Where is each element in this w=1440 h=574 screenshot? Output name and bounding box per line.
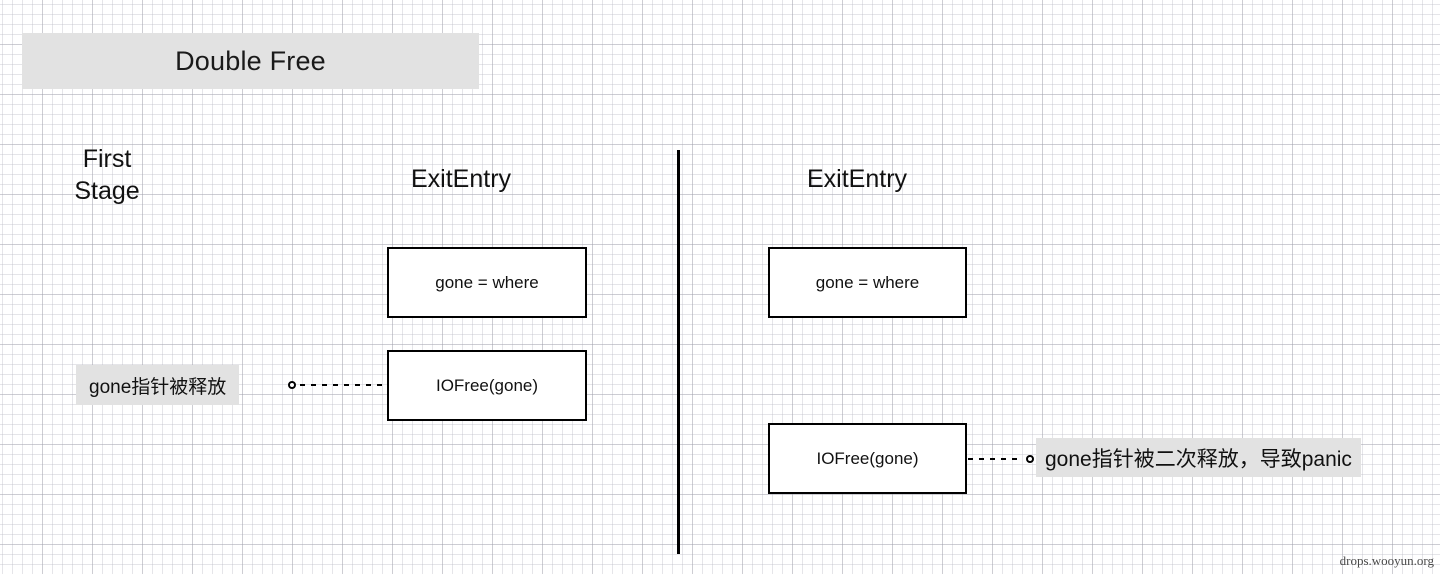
- diagram-title-bar: Double Free: [22, 33, 479, 89]
- node-label: gone = where: [435, 273, 539, 293]
- node-box-left-iofree: IOFree(gone): [387, 350, 587, 421]
- page-title: Double Free: [175, 46, 326, 77]
- stage-label: First Stage: [52, 144, 162, 207]
- watermark: drops.wooyun.org: [1340, 553, 1434, 569]
- node-box-left-assign: gone = where: [387, 247, 587, 318]
- connector-dot-icon: [288, 381, 296, 389]
- node-label: gone = where: [816, 273, 920, 293]
- connector-right: [968, 453, 1034, 465]
- connector-left: [288, 379, 389, 391]
- annotation-right: gone指针被二次释放，导致panic: [1036, 438, 1361, 477]
- column-title-left: ExitEntry: [411, 165, 511, 194]
- connector-dot-icon: [1026, 455, 1034, 463]
- node-box-right-iofree: IOFree(gone): [768, 423, 967, 494]
- node-box-right-assign: gone = where: [768, 247, 967, 318]
- node-label: IOFree(gone): [436, 376, 538, 396]
- stage-label-line1: First: [52, 144, 162, 176]
- connector-dashed-line: [300, 384, 389, 386]
- connector-dashed-line: [968, 458, 1023, 460]
- column-title-right: ExitEntry: [807, 165, 907, 194]
- node-label: IOFree(gone): [816, 449, 918, 469]
- annotation-left: gone指针被释放: [76, 365, 239, 405]
- column-divider: [677, 150, 680, 554]
- stage-label-line2: Stage: [52, 176, 162, 208]
- diagram-canvas: Double Free First Stage ExitEntry ExitEn…: [0, 0, 1440, 574]
